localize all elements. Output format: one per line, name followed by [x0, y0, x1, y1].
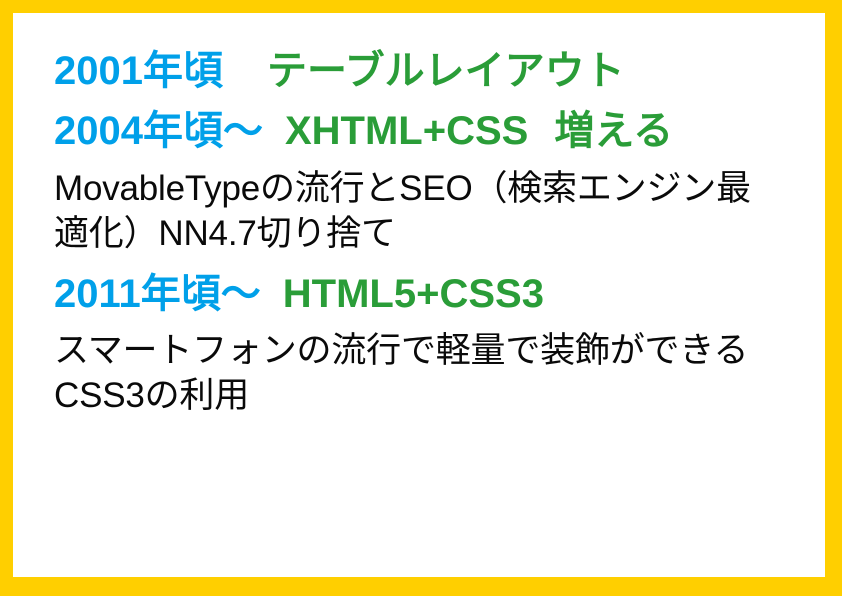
timeline-row-2011: 2011年頃〜HTML5+CSS3	[54, 265, 821, 323]
body-text-line: MovableTypeの流行とSEO（検索エンジン最	[54, 166, 821, 211]
body-text-line: 適化）NN4.7切り捨て	[54, 211, 821, 256]
timeline-note-2004: 増える	[554, 109, 673, 153]
timeline-year-2004: 2004年頃〜	[54, 109, 263, 153]
timeline-row-2004: 2004年頃〜XHTML+CSS増える	[54, 102, 821, 160]
timeline-term-2004: XHTML+CSS	[285, 109, 528, 153]
slide-content: 2001年頃テーブルレイアウト 2004年頃〜XHTML+CSS増える Mova…	[54, 42, 821, 577]
timeline-term-2011: HTML5+CSS3	[283, 272, 544, 316]
slide-page: 2001年頃テーブルレイアウト 2004年頃〜XHTML+CSS増える Mova…	[13, 13, 825, 577]
timeline-year-2011: 2011年頃〜	[54, 272, 261, 316]
slide-canvas: 2001年頃テーブルレイアウト 2004年頃〜XHTML+CSS増える Mova…	[0, 0, 842, 596]
body-text-line: スマートフォンの流行で軽量で装飾ができる	[54, 328, 821, 373]
timeline-term-2001: テーブルレイアウト	[267, 49, 625, 93]
timeline-year-2001: 2001年頃	[54, 49, 223, 93]
timeline-row-2001: 2001年頃テーブルレイアウト	[54, 42, 821, 100]
body-text-line: CSS3の利用	[54, 373, 821, 418]
